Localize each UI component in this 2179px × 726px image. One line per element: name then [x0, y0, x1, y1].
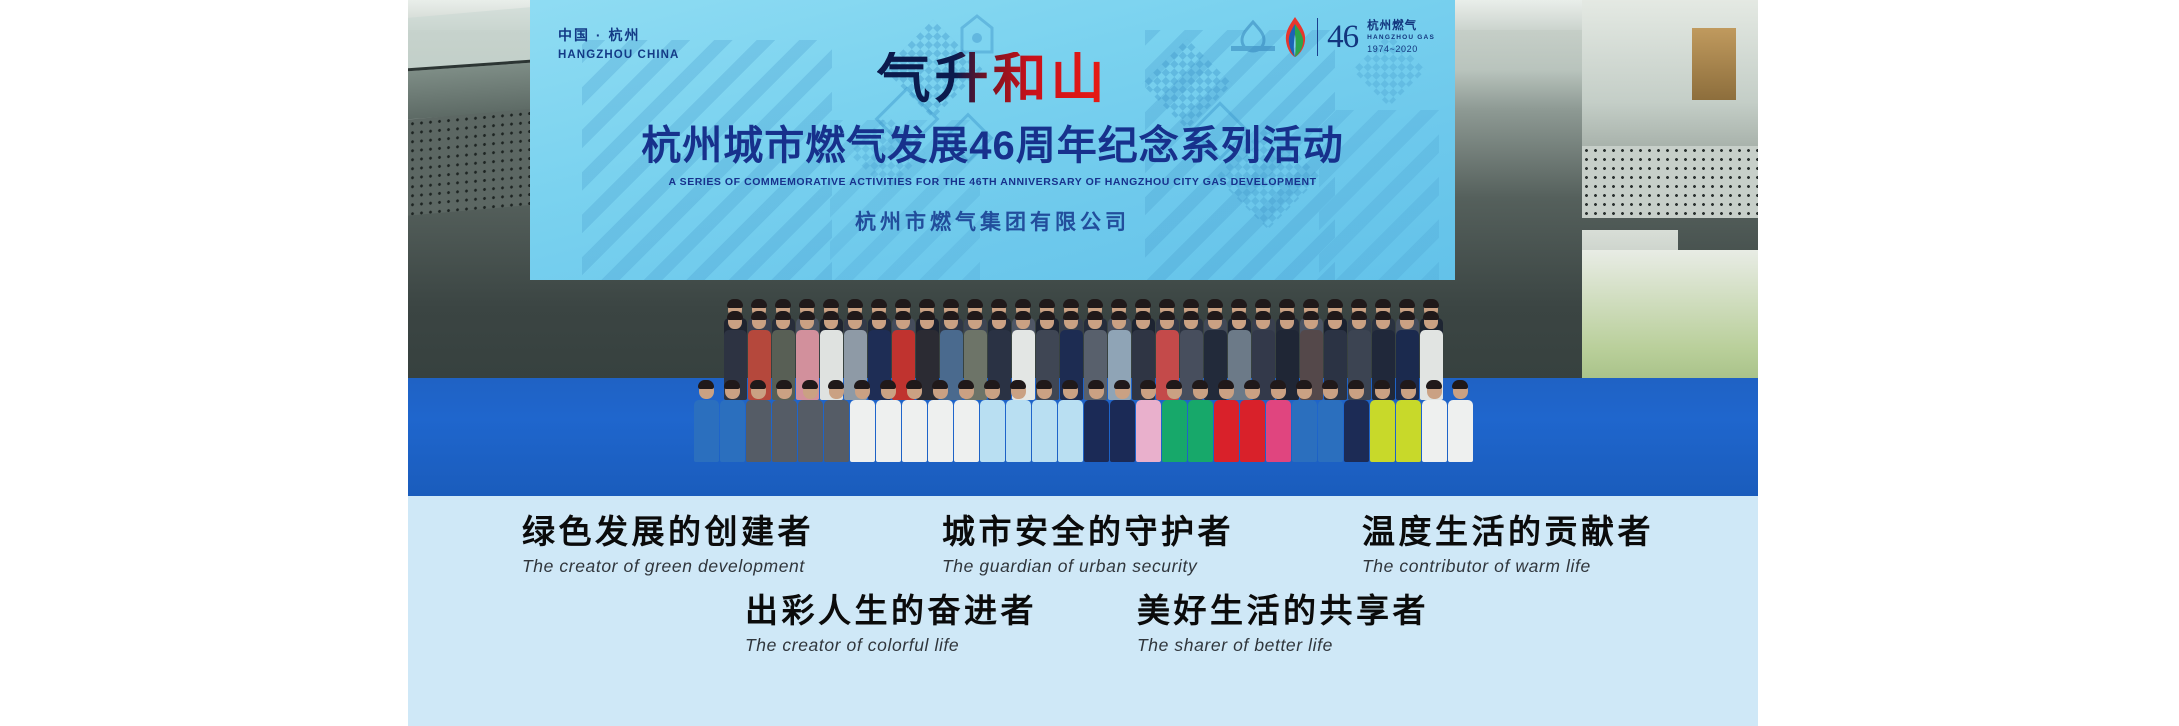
slogan-en: The creator of colorful life — [745, 635, 1037, 656]
flame-icon — [1282, 16, 1308, 58]
slogan-cn: 温度生活的贡献者 — [1362, 514, 1654, 551]
slogan-cn: 城市安全的守护者 — [942, 514, 1234, 551]
person — [1110, 382, 1135, 462]
slogan-en: The sharer of better life — [1137, 635, 1429, 656]
event-group-photo: 中国 · 杭州 HANGZHOU CHINA 46 杭州燃气 HANGZHOU … — [408, 0, 1758, 496]
anniversary-logo: 46 杭州燃气 HANGZHOU GAS 1974~2020 — [1282, 16, 1435, 58]
group-photo-crowd — [408, 176, 1758, 496]
house-icon — [960, 14, 994, 54]
person — [694, 382, 719, 462]
person — [902, 382, 927, 462]
logo-divider — [1317, 18, 1319, 56]
logo-years: 1974~2020 — [1367, 44, 1435, 55]
person — [772, 382, 797, 462]
slogan-better-life: 美好生活的共享者 The sharer of better life — [1137, 593, 1429, 656]
slogan-warm-life: 温度生活的贡献者 The contributor of warm life — [1362, 514, 1654, 577]
slogan-cn: 出彩人生的奋进者 — [745, 593, 1037, 630]
person — [720, 382, 745, 462]
logo-number: 46 — [1327, 21, 1358, 54]
poster-page: 中国 · 杭州 HANGZHOU CHINA 46 杭州燃气 HANGZHOU … — [0, 0, 2179, 726]
person — [1292, 382, 1317, 462]
person — [1448, 382, 1473, 462]
slogan-en: The contributor of warm life — [1362, 556, 1654, 577]
person — [876, 382, 901, 462]
person — [1266, 382, 1291, 462]
slogan-panel: 绿色发展的创建者 The creator of green developmen… — [408, 496, 1758, 726]
person — [1006, 382, 1031, 462]
logo-brand-en: HANGZHOU GAS — [1367, 34, 1435, 42]
person — [824, 382, 849, 462]
slogan-row-top: 绿色发展的创建者 The creator of green developmen… — [408, 496, 1758, 577]
person — [928, 382, 953, 462]
person — [1214, 382, 1239, 462]
person — [954, 382, 979, 462]
person — [798, 382, 823, 462]
person — [1162, 382, 1187, 462]
person — [1396, 382, 1421, 462]
person — [1318, 382, 1343, 462]
person — [980, 382, 1005, 462]
slogan-cn: 美好生活的共享者 — [1137, 593, 1429, 630]
slogan-en: The creator of green development — [522, 556, 814, 577]
slogan-row-bottom: 出彩人生的奋进者 The creator of colorful life 美好… — [408, 577, 1758, 656]
logo-brand-cn: 杭州燃气 — [1367, 19, 1435, 33]
person — [746, 382, 771, 462]
slogan-cn: 绿色发展的创建者 — [522, 514, 814, 551]
slogan-urban-security: 城市安全的守护者 The guardian of urban security — [942, 514, 1234, 577]
person — [1370, 382, 1395, 462]
slogan-colorful-life: 出彩人生的奋进者 The creator of colorful life — [745, 593, 1037, 656]
artistic-title: 气升和山 — [530, 52, 1455, 106]
person — [1188, 382, 1213, 462]
person — [1136, 382, 1161, 462]
artistic-title-text: 气升和山 — [877, 52, 1109, 106]
person — [1084, 382, 1109, 462]
logo-wordmark: 杭州燃气 HANGZHOU GAS 1974~2020 — [1367, 19, 1435, 55]
person — [1032, 382, 1057, 462]
backdrop-headline: 杭州城市燃气发展46周年纪念系列活动 — [530, 124, 1455, 168]
person — [1058, 382, 1083, 462]
slogan-en: The guardian of urban security — [942, 556, 1234, 577]
crowd-row-front — [408, 382, 1758, 462]
person — [850, 382, 875, 462]
content-column: 中国 · 杭州 HANGZHOU CHINA 46 杭州燃气 HANGZHOU … — [408, 0, 1758, 726]
locale-cn: 中国 · 杭州 — [558, 26, 679, 45]
venue-wood-column — [1692, 28, 1736, 100]
slogan-green-development: 绿色发展的创建者 The creator of green developmen… — [522, 514, 814, 577]
person — [1344, 382, 1369, 462]
person — [1240, 382, 1265, 462]
person — [1422, 382, 1447, 462]
